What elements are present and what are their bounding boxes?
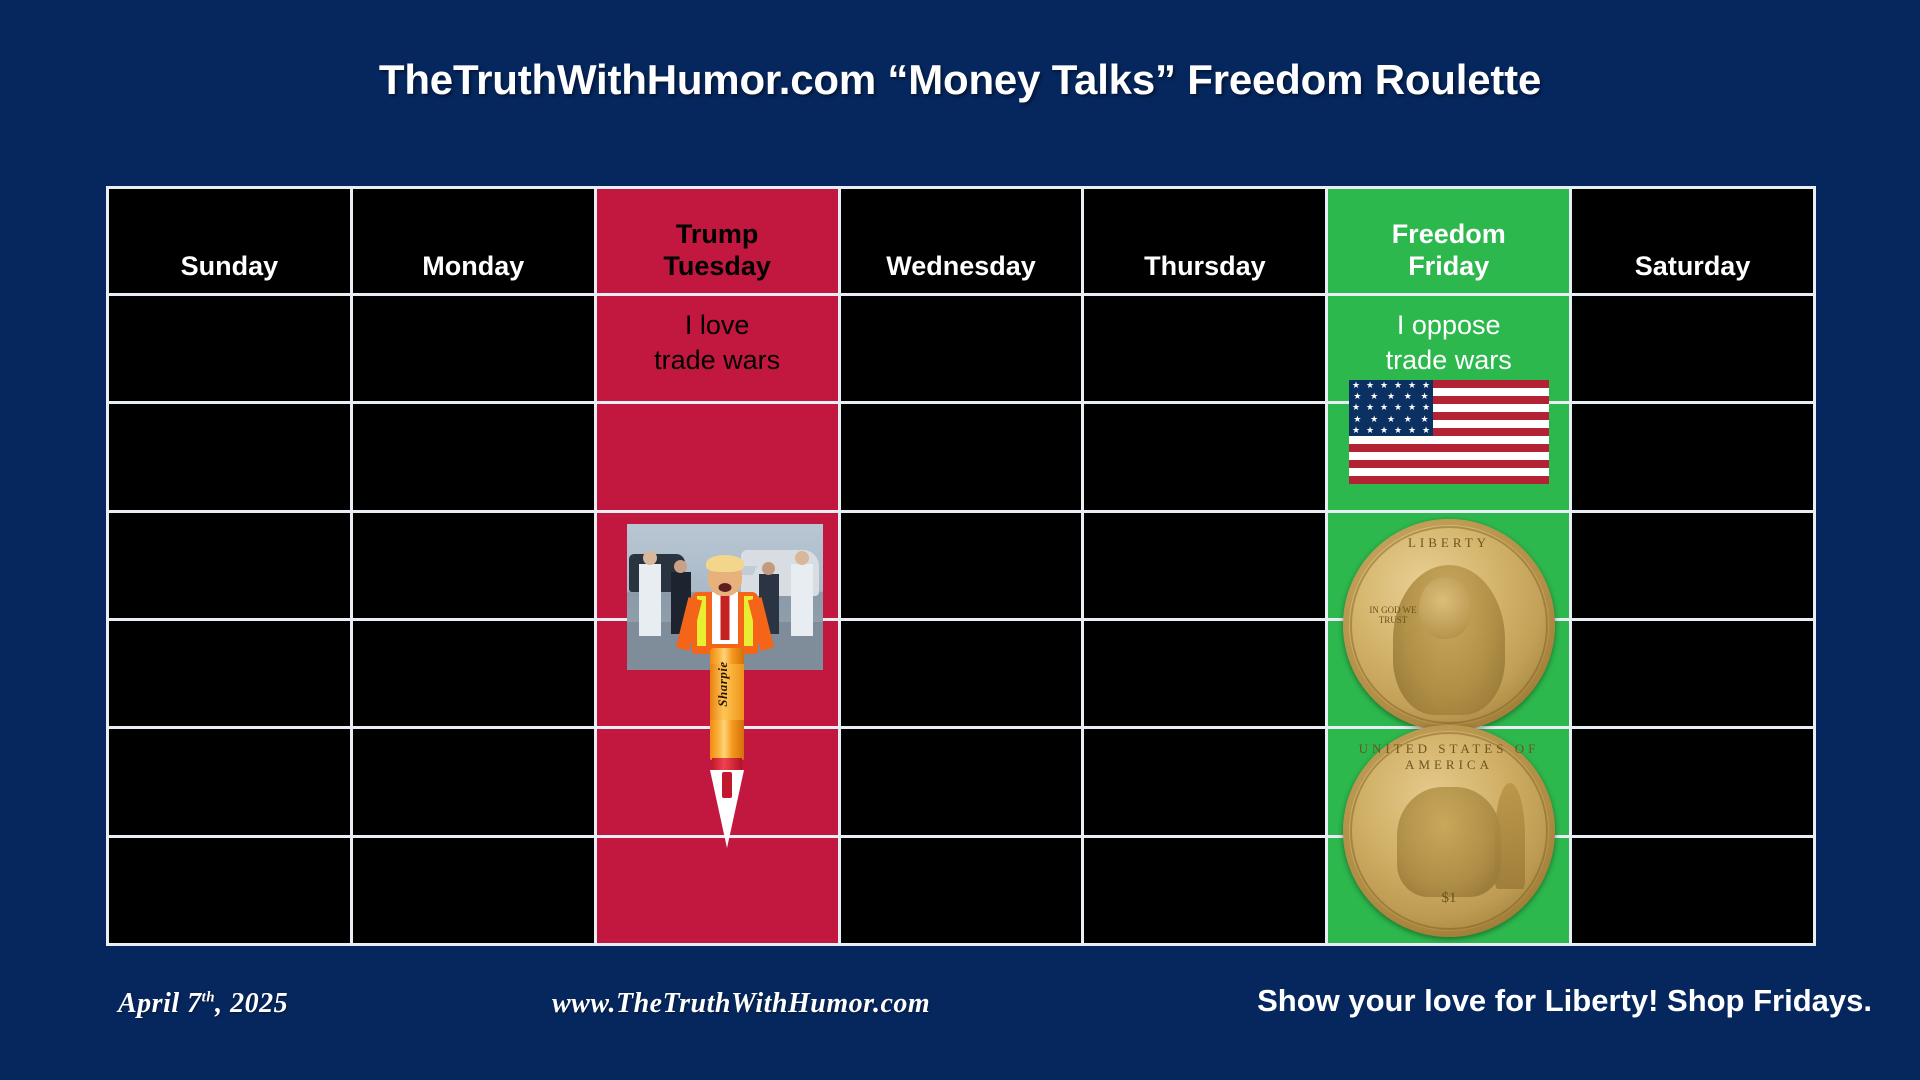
page-title: TheTruthWithHumor.com “Money Talks” Free… [0, 56, 1920, 104]
star-row: ★★★★★★ [1349, 380, 1433, 391]
calendar-cell[interactable] [1084, 838, 1325, 943]
calendar-cell[interactable] [841, 296, 1082, 401]
wheat-stalks [1495, 783, 1525, 889]
calendar-cell[interactable] [841, 838, 1082, 943]
star-row: ★★★★★★ [1349, 402, 1433, 413]
calendar-cell[interactable] [1084, 621, 1325, 726]
calendar-cell[interactable] [353, 729, 594, 834]
calendar-header-sunday[interactable]: Sunday [109, 189, 350, 293]
sacagawea-dollar-reverse-icon: UNITED STATES OF AMERICA $1 [1343, 725, 1555, 937]
calendar-cell[interactable] [1084, 513, 1325, 618]
marker-nib [722, 772, 732, 798]
sharpie-brand-text: Sharpie [715, 658, 731, 710]
star-row: ★★★★★ [1349, 391, 1433, 402]
calendar-header-saturday[interactable]: Saturday [1572, 189, 1813, 293]
bystander-figure [639, 564, 661, 636]
calendar-cell[interactable] [1572, 296, 1813, 401]
tuesday-note-line2: trade wars [597, 343, 838, 378]
calendar-cell[interactable] [1572, 404, 1813, 509]
calendar-cell[interactable] [841, 621, 1082, 726]
coin-denomination-text: $1 [1343, 890, 1555, 907]
calendar-cell[interactable] [841, 513, 1082, 618]
calendar-header-thursday[interactable]: Thursday [1084, 189, 1325, 293]
calendar-cell[interactable] [109, 404, 350, 509]
footer-date-rest: , 2025 [215, 988, 288, 1019]
calendar-cell[interactable] [353, 621, 594, 726]
calendar-header-monday[interactable]: Monday [353, 189, 594, 293]
coin-liberty-text: LIBERTY [1343, 535, 1555, 551]
hair [706, 555, 744, 572]
calendar-cell[interactable] [109, 621, 350, 726]
sacagawea-bust [1393, 565, 1505, 715]
us-flag-icon: ★★★★★★ ★★★★★ ★★★★★★ ★★★★★ ★★★★★★ [1349, 380, 1549, 484]
footer-date: April 7th, 2025 [118, 988, 288, 1020]
necktie [721, 594, 730, 640]
calendar-cell-tuesday-note[interactable]: I love trade wars [597, 296, 838, 401]
sacagawea-dollar-obverse-icon: LIBERTY IN GOD WE TRUST [1343, 519, 1555, 731]
calendar-cell[interactable] [841, 404, 1082, 509]
calendar-cell[interactable] [841, 729, 1082, 834]
flag-canton: ★★★★★★ ★★★★★ ★★★★★★ ★★★★★ ★★★★★★ [1349, 380, 1433, 436]
calendar-cell[interactable] [597, 404, 838, 509]
sower-figure [1397, 787, 1501, 897]
calendar-cell[interactable] [1084, 296, 1325, 401]
calendar-header-freedom-friday[interactable]: Freedom Friday [1328, 189, 1569, 293]
header-line2: Wednesday [886, 251, 1036, 283]
header-line2: Sunday [181, 251, 279, 283]
coin-motto-text: IN GOD WE TRUST [1365, 605, 1421, 626]
calendar-cell[interactable] [353, 404, 594, 509]
calendar-cell[interactable] [353, 838, 594, 943]
star-row: ★★★★★ [1349, 414, 1433, 425]
header-line2: Friday [1408, 251, 1489, 283]
calendar-cell[interactable] [109, 513, 350, 618]
header-line2: Thursday [1144, 251, 1266, 283]
bystander-figure [791, 564, 813, 636]
friday-note: I oppose trade wars [1328, 296, 1569, 378]
calendar-grid: Sunday Monday Trump Tuesday Wednesday Th… [106, 186, 1816, 946]
calendar-cell[interactable] [109, 729, 350, 834]
calendar-cell[interactable] [1084, 404, 1325, 509]
calendar-header-wednesday[interactable]: Wednesday [841, 189, 1082, 293]
header-line1: Trump [676, 219, 759, 251]
calendar-cell[interactable] [1572, 621, 1813, 726]
calendar-cell[interactable] [1572, 513, 1813, 618]
friday-note-line2: trade wars [1328, 343, 1569, 378]
footer-date-sup: th [202, 990, 216, 1006]
calendar-cell[interactable] [353, 296, 594, 401]
calendar-cell[interactable] [109, 838, 350, 943]
header-line2: Tuesday [663, 251, 771, 283]
footer-date-main: April 7 [118, 988, 202, 1019]
header-line1: Freedom [1392, 219, 1506, 251]
coin-country-text: UNITED STATES OF AMERICA [1343, 741, 1555, 773]
calendar-cell[interactable] [1572, 729, 1813, 834]
sharpie-marker-icon: Sharpie [706, 648, 748, 858]
calendar-cell[interactable] [1572, 838, 1813, 943]
header-line2: Saturday [1635, 251, 1751, 283]
calendar-cell[interactable] [353, 513, 594, 618]
footer-tagline: Show your love for Liberty! Shop Fridays… [1257, 983, 1872, 1019]
open-mouth [719, 583, 732, 592]
header-line2: Monday [422, 251, 524, 283]
tuesday-note-line1: I love [597, 308, 838, 343]
calendar-header-trump-tuesday[interactable]: Trump Tuesday [597, 189, 838, 293]
footer-website-url[interactable]: www.TheTruthWithHumor.com [552, 988, 930, 1020]
calendar-cell[interactable] [1084, 729, 1325, 834]
star-row: ★★★★★★ [1349, 425, 1433, 436]
friday-note-line1: I oppose [1328, 308, 1569, 343]
calendar-cell[interactable] [109, 296, 350, 401]
tuesday-note: I love trade wars [597, 296, 838, 378]
